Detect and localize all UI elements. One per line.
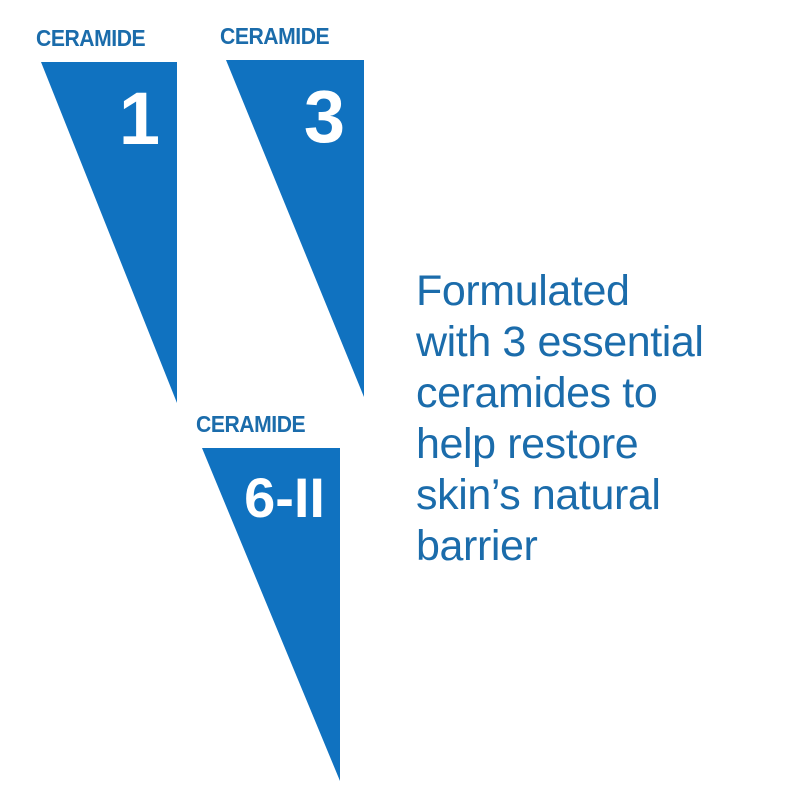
pennant-numeral-2: 3 xyxy=(245,80,345,154)
copy-line: barrier xyxy=(416,521,786,572)
copy-line: with 3 essential xyxy=(416,317,786,368)
pennant-label-3: CERAMIDE xyxy=(196,413,305,436)
pennant-label-2: CERAMIDE xyxy=(220,25,329,48)
ceramide-infographic: CERAMIDE 1 CERAMIDE 3 CERAMIDE 6-II Form… xyxy=(0,0,800,800)
copy-line: ceramides to xyxy=(416,368,786,419)
pennant-numeral-1: 1 xyxy=(60,82,160,156)
pennant-numeral-3: 6-II xyxy=(208,470,325,526)
marketing-copy: Formulated with 3 essential ceramides to… xyxy=(416,266,786,572)
copy-line: help restore xyxy=(416,419,786,470)
pennant-label-1: CERAMIDE xyxy=(36,27,145,50)
copy-line: Formulated xyxy=(416,266,786,317)
copy-line: skin’s natural xyxy=(416,470,786,521)
